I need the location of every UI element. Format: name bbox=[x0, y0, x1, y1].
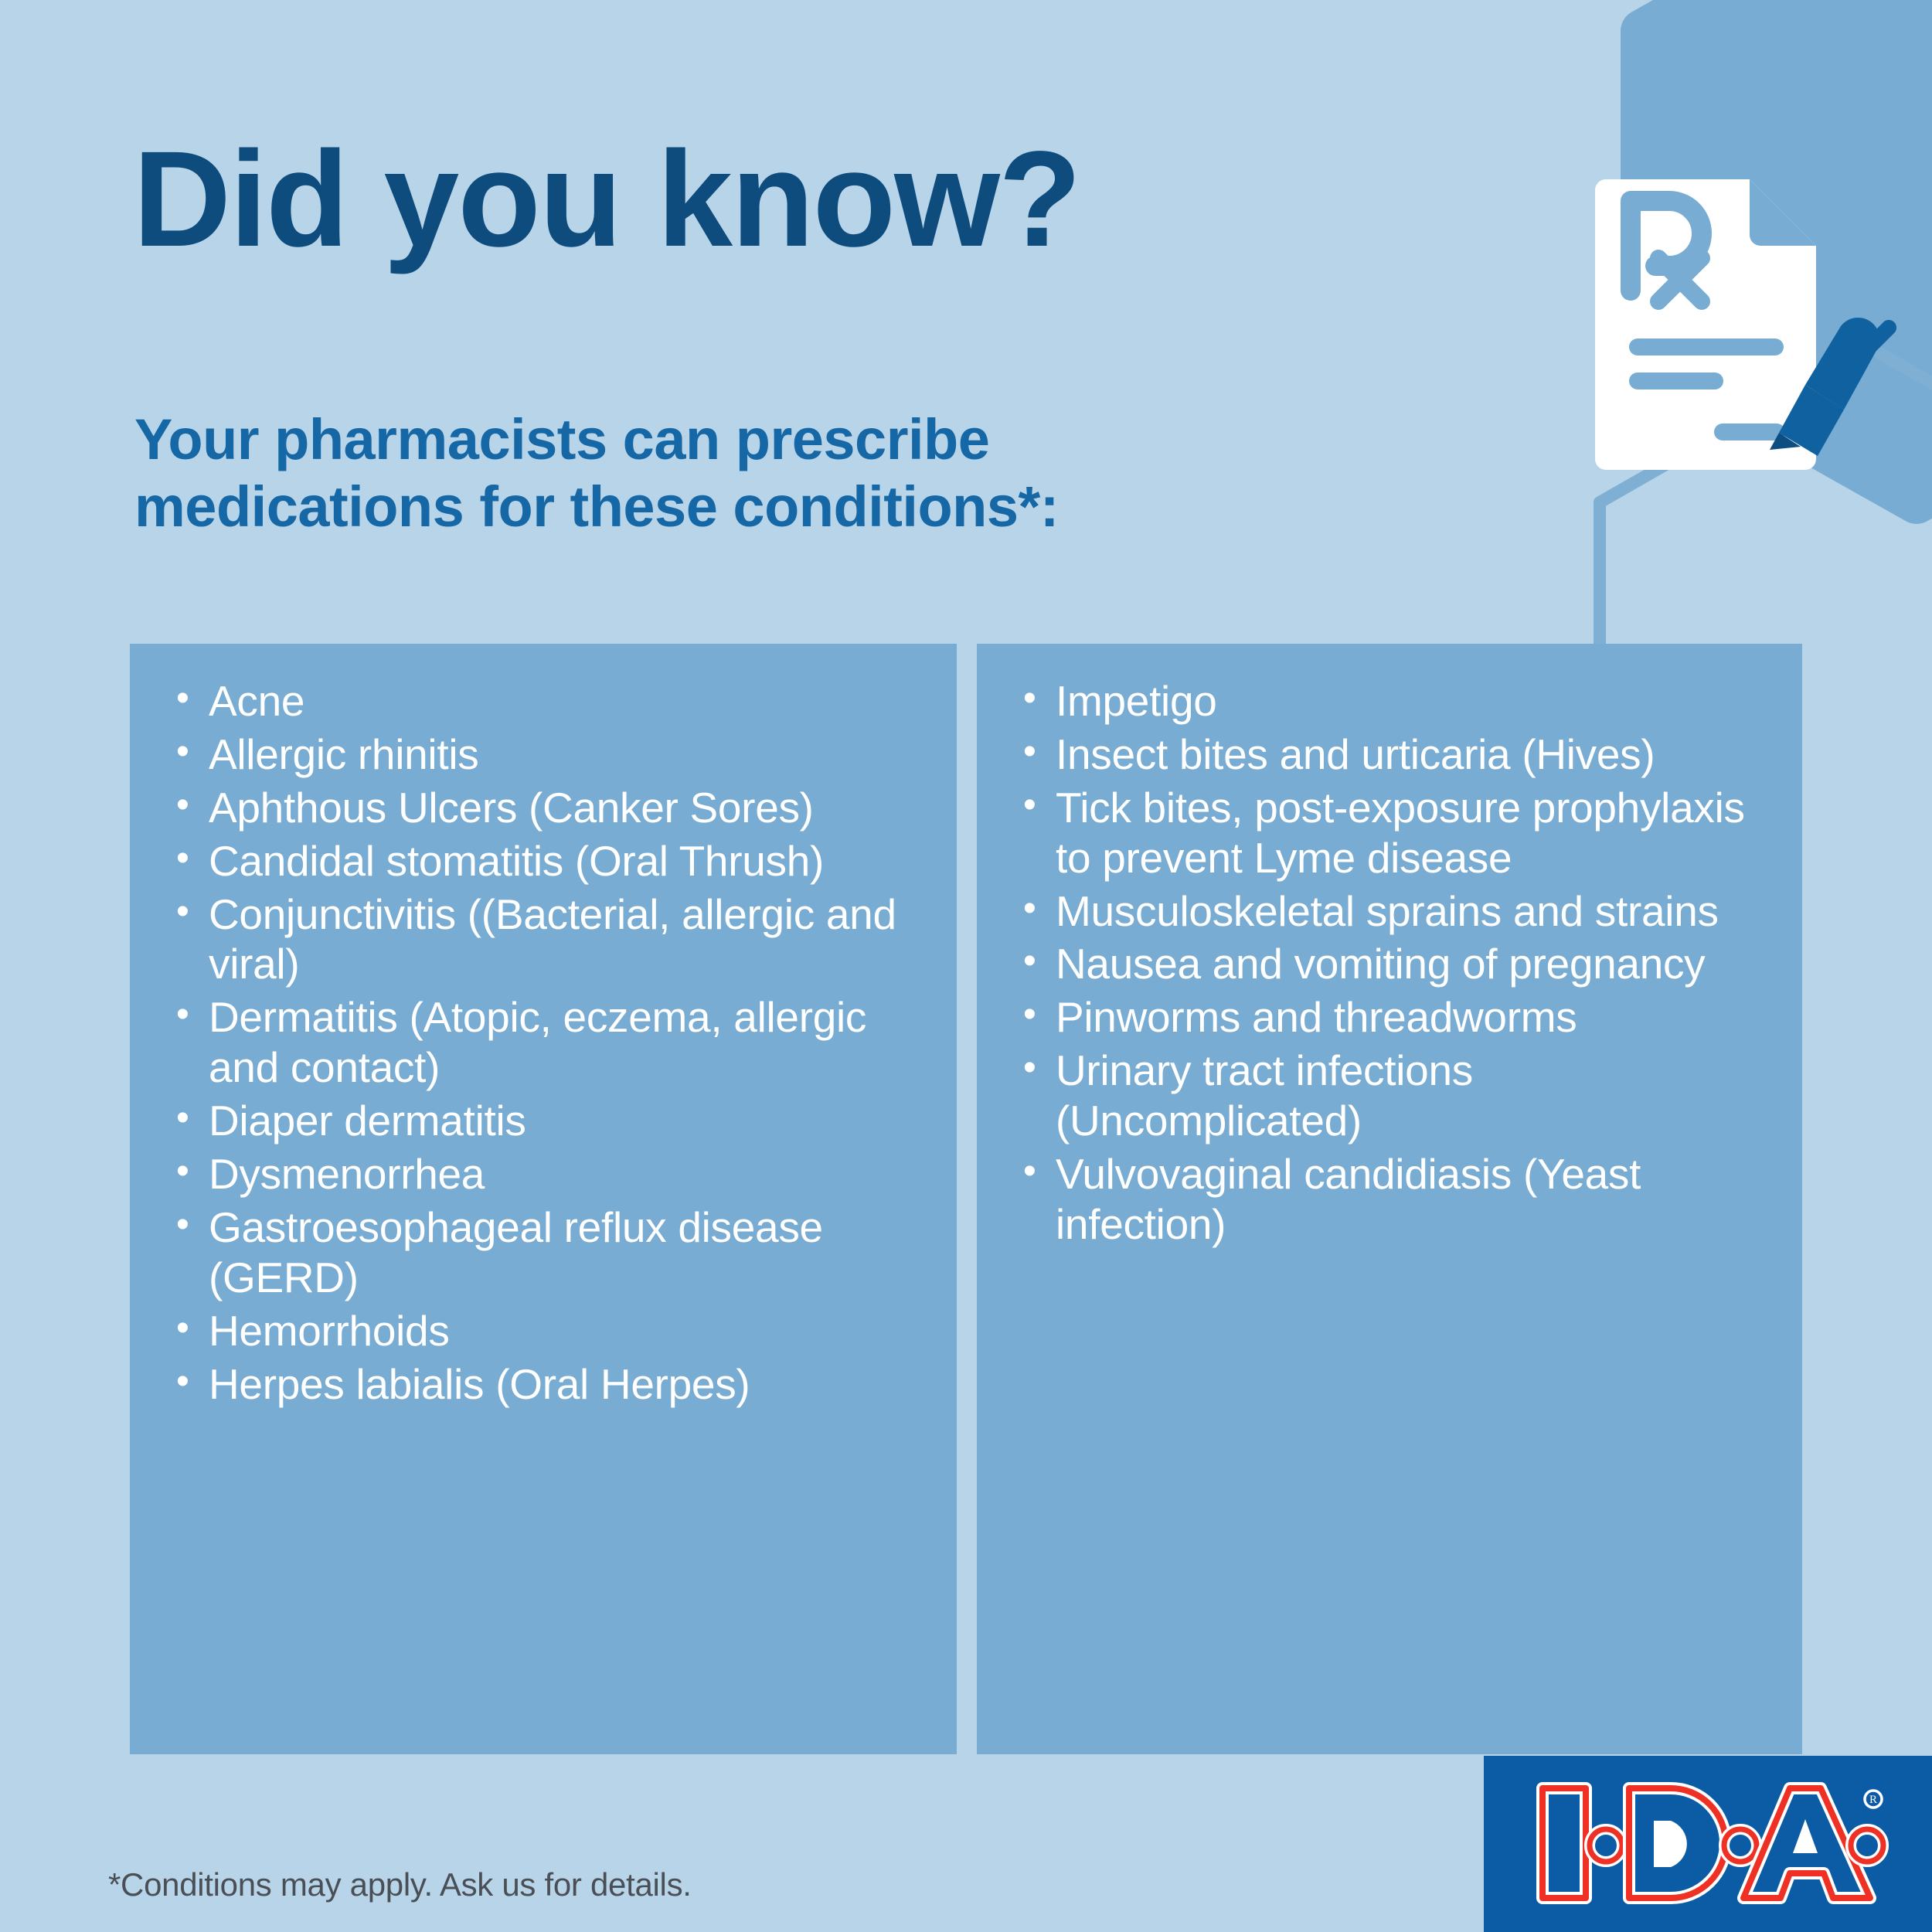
conditions-panel-right: Impetigo Insect bites and urticaria (Hiv… bbox=[977, 644, 1802, 1754]
conditions-list-right: Impetigo Insect bites and urticaria (Hiv… bbox=[1023, 676, 1779, 1250]
svg-text:R: R bbox=[1869, 1794, 1877, 1806]
list-item: Allergic rhinitis bbox=[176, 730, 926, 780]
list-item: Nausea and vomiting of pregnancy bbox=[1023, 939, 1779, 989]
list-item: Pinworms and threadworms bbox=[1023, 992, 1779, 1043]
infographic-poster: Did you know? Your pharmacists can presc… bbox=[0, 0, 1932, 1932]
prescription-document-with-pen-icon bbox=[1584, 178, 1909, 502]
page-title: Did you know? bbox=[133, 131, 1080, 267]
conditions-list-left: Acne Allergic rhinitis Aphthous Ulcers (… bbox=[176, 676, 926, 1409]
document-folded-corner bbox=[1750, 179, 1816, 246]
subheading-line-2: medications for these conditions*: bbox=[134, 473, 1059, 540]
list-item: Musculoskeletal sprains and strains bbox=[1023, 886, 1779, 937]
registered-trademark-icon: R bbox=[1865, 1791, 1882, 1808]
subheading: Your pharmacists can prescribe medicatio… bbox=[134, 406, 1059, 541]
list-item: Insect bites and urticaria (Hives) bbox=[1023, 730, 1779, 780]
document-signature-line bbox=[1714, 423, 1785, 440]
list-item: Acne bbox=[176, 676, 926, 726]
list-item: Impetigo bbox=[1023, 676, 1779, 726]
list-item: Urinary tract infections (Uncomplicated) bbox=[1023, 1046, 1779, 1146]
list-item: Gastroesophageal reflux disease (GERD) bbox=[176, 1202, 926, 1303]
document-line-1 bbox=[1629, 338, 1784, 355]
list-item: Tick bites, post-exposure prophylaxis to… bbox=[1023, 783, 1779, 883]
list-item: Candidal stomatitis (Oral Thrush) bbox=[176, 836, 926, 886]
ida-logo: R bbox=[1484, 1756, 1932, 1932]
list-item: Dermatitis (Atopic, eczema, allergic and… bbox=[176, 992, 926, 1093]
conditions-panel-left: Acne Allergic rhinitis Aphthous Ulcers (… bbox=[130, 644, 957, 1754]
list-item: Dysmenorrhea bbox=[176, 1149, 926, 1199]
ida-logo-mark: R bbox=[1530, 1777, 1893, 1909]
list-item: Hemorrhoids bbox=[176, 1306, 926, 1356]
list-item: Conjunctivitis ((Bacterial, allergic and… bbox=[176, 889, 926, 990]
list-item: Diaper dermatitis bbox=[176, 1096, 926, 1146]
document-line-2 bbox=[1629, 372, 1723, 389]
disclaimer-text: *Conditions may apply. Ask us for detail… bbox=[108, 1866, 692, 1903]
conditions-panels: Acne Allergic rhinitis Aphthous Ulcers (… bbox=[130, 644, 1802, 1754]
list-item: Herpes labialis (Oral Herpes) bbox=[176, 1359, 926, 1410]
list-item: Aphthous Ulcers (Canker Sores) bbox=[176, 783, 926, 833]
list-item: Vulvovaginal candidiasis (Yeast infectio… bbox=[1023, 1149, 1779, 1250]
subheading-line-1: Your pharmacists can prescribe bbox=[134, 406, 1059, 473]
